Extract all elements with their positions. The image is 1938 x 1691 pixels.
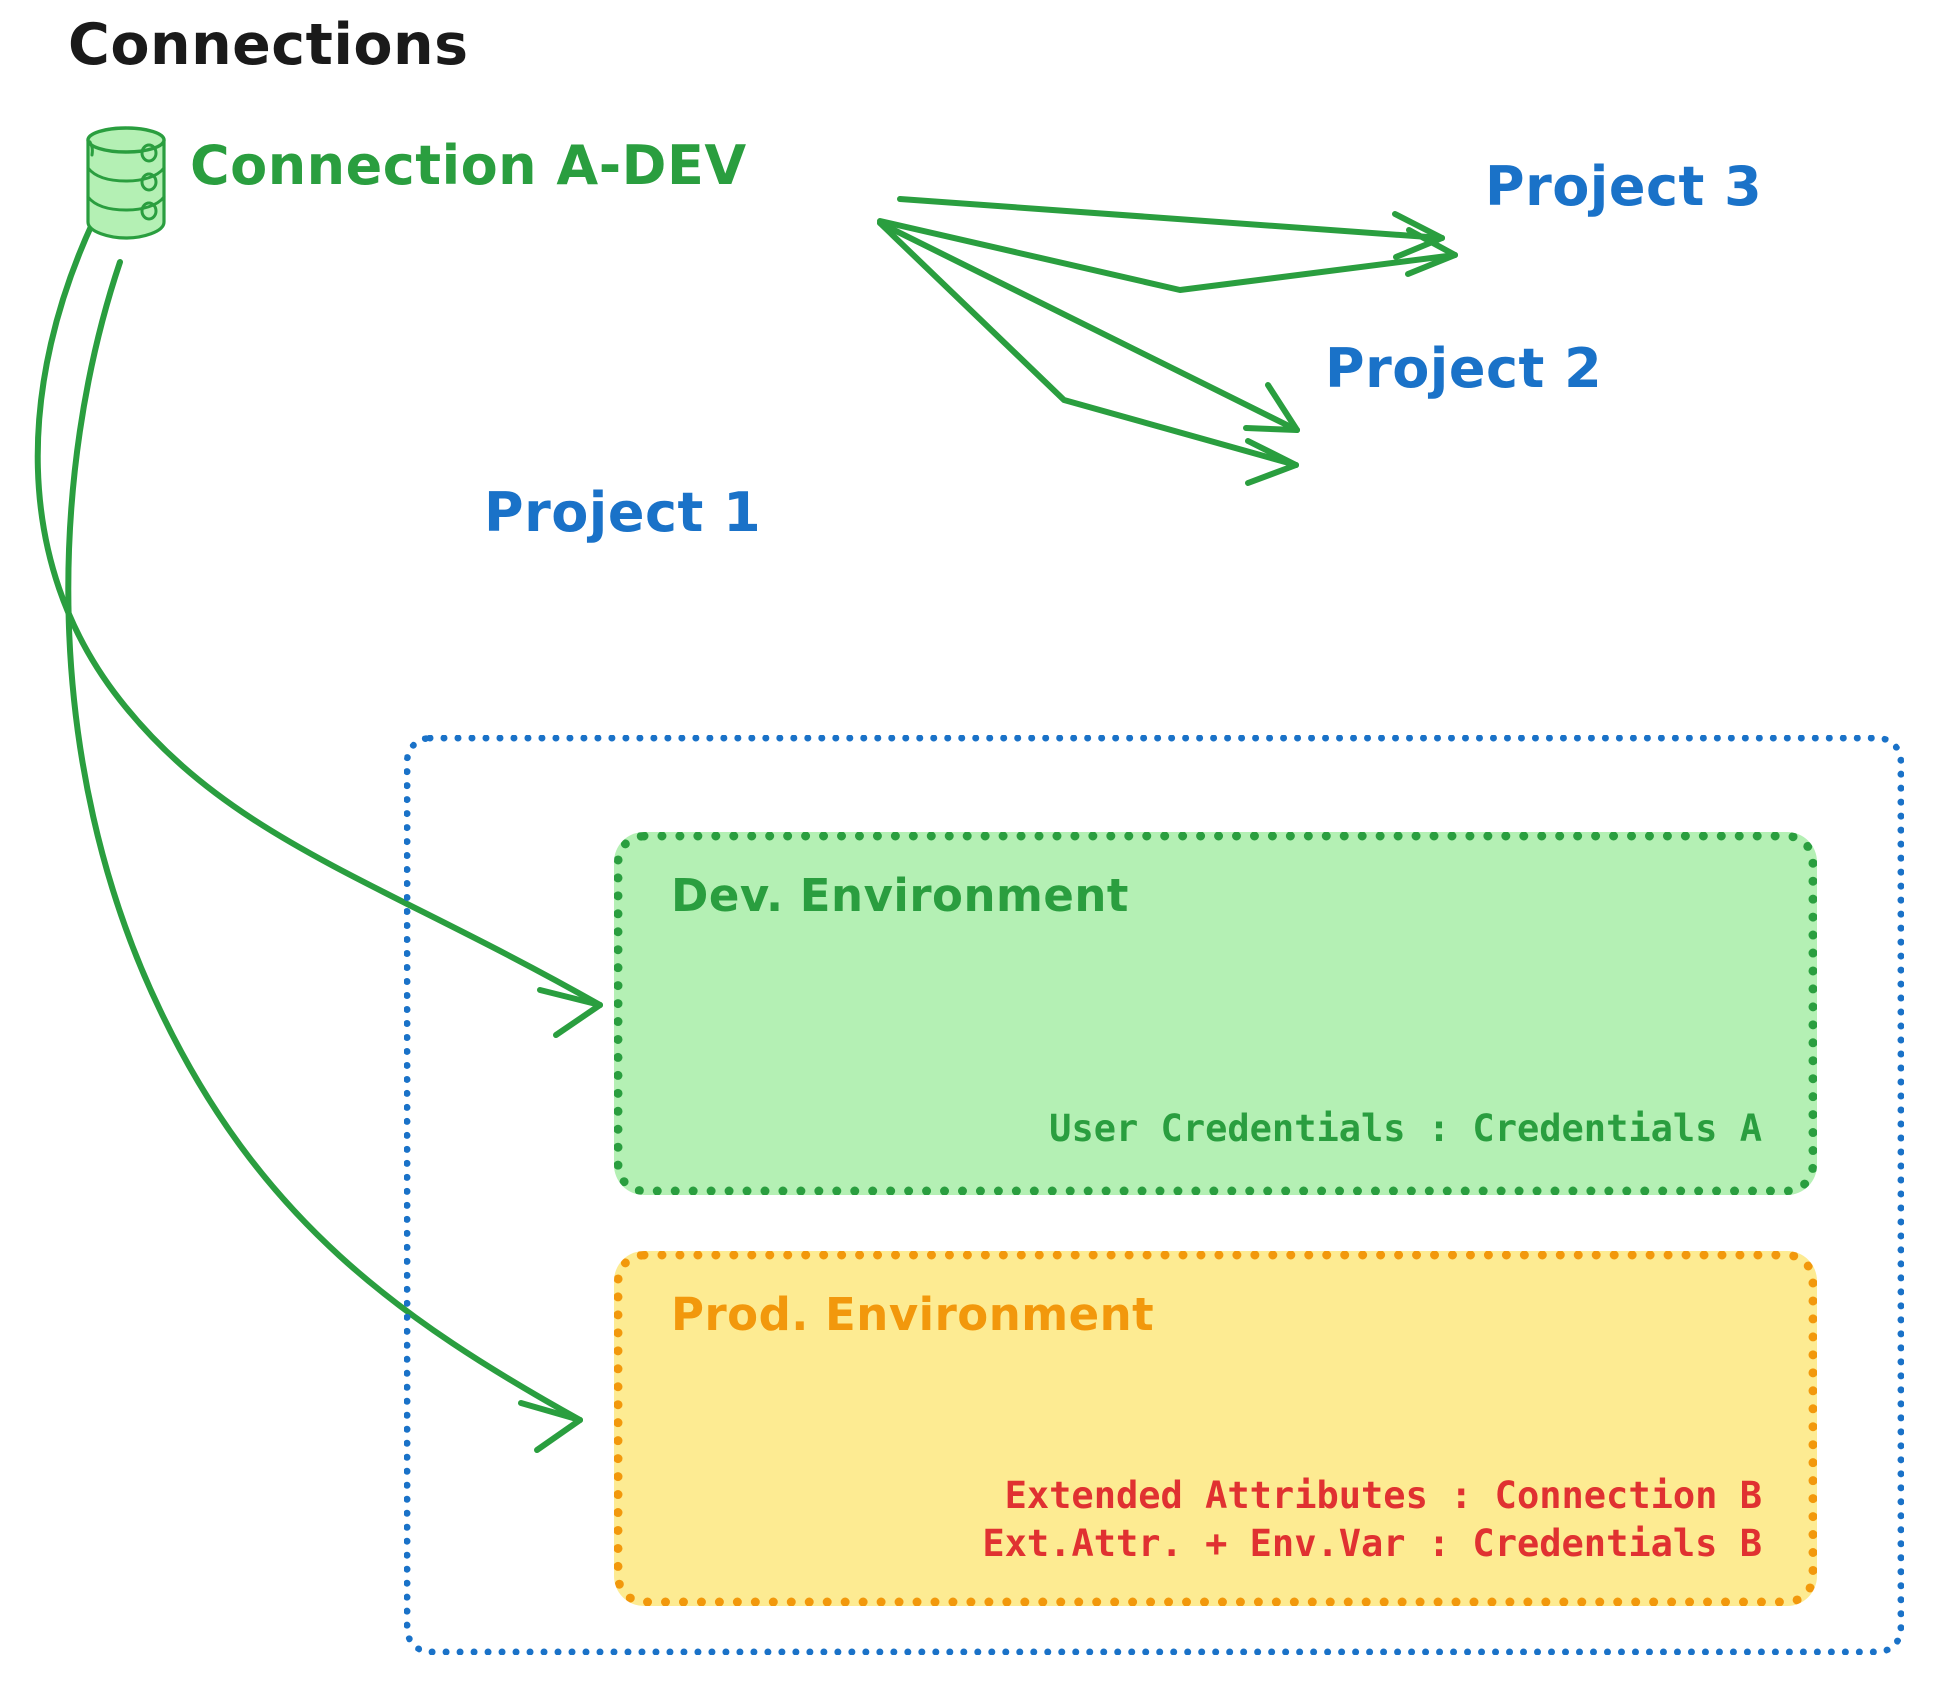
edge-connection-to-project2-alt xyxy=(880,223,1296,483)
edge-connection-to-project2 xyxy=(880,223,1297,430)
prod-environment-attribute-line-2: Ext.Attr. + Env.Var : Credentials B xyxy=(982,1520,1762,1567)
dev-environment-attribute-line: User Credentials : Credentials A xyxy=(1049,1105,1762,1152)
connection-node[interactable]: Connection A-DEV xyxy=(80,122,1080,242)
dev-environment-title: Dev. Environment xyxy=(671,869,1129,922)
prod-environment-box[interactable]: Prod. Environment Extended Attributes : … xyxy=(614,1251,1817,1606)
dev-environment-attributes: User Credentials : Credentials A xyxy=(1049,1105,1762,1152)
prod-environment-attributes: Extended Attributes : Connection B Ext.A… xyxy=(982,1472,1762,1567)
page-title: Connections xyxy=(68,12,469,78)
project-2-label[interactable]: Project 2 xyxy=(1325,337,1602,400)
database-icon xyxy=(80,122,172,240)
dev-environment-box[interactable]: Dev. Environment User Credentials : Cred… xyxy=(614,832,1817,1195)
project-1-label[interactable]: Project 1 xyxy=(484,481,761,544)
connection-label: Connection A-DEV xyxy=(190,134,747,197)
diagram-canvas: Connections Connection A-DEV Project 3 xyxy=(0,0,1938,1691)
project-3-label[interactable]: Project 3 xyxy=(1485,155,1762,218)
prod-environment-attribute-line-1: Extended Attributes : Connection B xyxy=(982,1472,1762,1519)
prod-environment-title: Prod. Environment xyxy=(671,1288,1154,1341)
